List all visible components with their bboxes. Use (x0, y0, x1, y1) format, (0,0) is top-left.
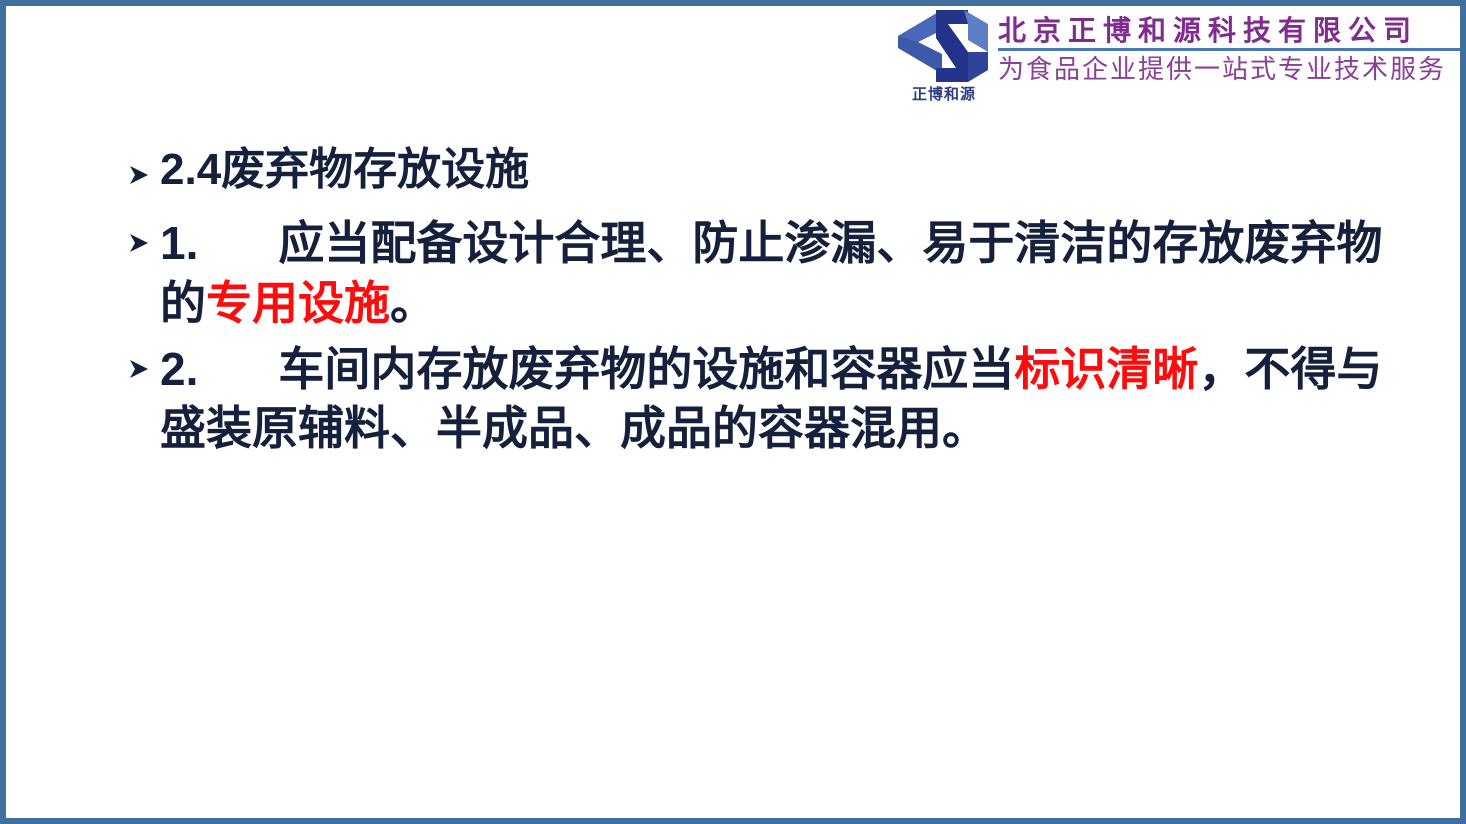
company-name: 北京正博和源科技有限公司 (998, 16, 1460, 45)
item-number: 1. (160, 217, 198, 269)
item-line-2-highlight: 专用设施 (206, 277, 390, 329)
brand-text-block: 北京正博和源科技有限公司 为食品企业提供一站式专业技术服务 (992, 6, 1460, 84)
section-heading: 2.4废弃物存放设施 (114, 148, 1404, 192)
arrow-bullet-icon (126, 230, 152, 256)
logo-caption: 正博和源 (898, 83, 990, 104)
arrow-bullet-icon (126, 162, 152, 188)
item-line-2-post: 。 (390, 277, 436, 329)
item-line-3: 容器混用。 (758, 402, 988, 454)
section-heading-text: 2.4废弃物存放设施 (160, 145, 529, 194)
zhengbo-heyuan-logo-icon (896, 8, 992, 86)
item-number: 2. (160, 343, 198, 395)
company-logo: 正博和源 (896, 8, 992, 108)
slide-content: 2.4废弃物存放设施 1.应当配备设计合理、防止渗漏、易于清洁的存放废弃物的专用… (114, 148, 1404, 465)
brand-divider (998, 48, 1460, 51)
company-slogan: 为食品企业提供一站式专业技术服务 (998, 55, 1460, 84)
item-line-1-highlight: 标 (1014, 343, 1060, 395)
arrow-bullet-icon (126, 356, 152, 382)
brand-header: 正博和源 北京正博和源科技有限公司 为食品企业提供一站式专业技术服务 (888, 6, 1460, 114)
item-line-2-highlight: 识清晰 (1060, 343, 1198, 395)
item-line-1-pre: 车间内存放废弃物的设施和容器应当 (278, 343, 1014, 395)
list-item: 1.应当配备设计合理、防止渗漏、易于清洁的存放废弃物的专用设施。 (114, 214, 1404, 334)
list-item: 2.车间内存放废弃物的设施和容器应当标识清晰，不得与盛装原辅料、半成品、成品的容… (114, 340, 1404, 460)
item-line-1: 应当配备设计合理、防止渗漏、易于清 (278, 217, 1060, 269)
slide-canvas: 正博和源 北京正博和源科技有限公司 为食品企业提供一站式专业技术服务 2.4废弃… (0, 0, 1466, 824)
